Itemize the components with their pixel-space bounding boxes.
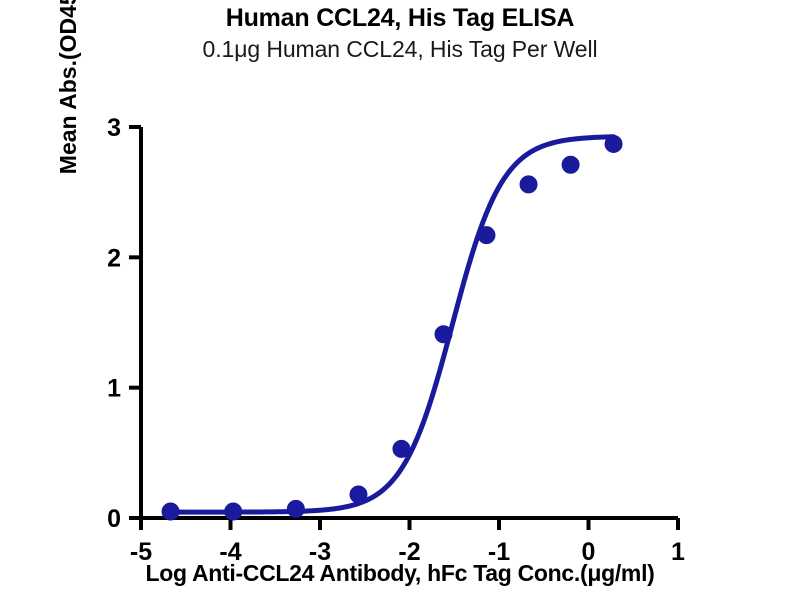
plot-area: -5-4-3-2-1010123	[0, 0, 800, 600]
data-point	[287, 500, 304, 517]
data-points	[162, 135, 622, 520]
x-tick-label: -5	[130, 538, 152, 566]
data-point	[478, 227, 495, 244]
data-point	[393, 440, 410, 457]
axes: -5-4-3-2-1010123	[107, 114, 685, 566]
fit-curve	[171, 137, 614, 512]
y-tick-label: 3	[107, 114, 121, 142]
x-tick-label: -4	[219, 538, 241, 566]
y-tick-label: 1	[107, 375, 121, 403]
x-tick-label: -1	[488, 538, 510, 566]
y-tick-label: 2	[107, 244, 121, 272]
y-tick-label: 0	[107, 505, 121, 533]
data-point	[435, 326, 452, 343]
data-point	[162, 503, 179, 520]
x-tick-label: -2	[398, 538, 420, 566]
elisa-chart-figure: Human CCL24, His Tag ELISA 0.1μg Human C…	[0, 0, 800, 600]
x-tick-label: 1	[671, 538, 685, 566]
x-tick-label: -3	[309, 538, 331, 566]
data-point	[562, 156, 579, 173]
sigmoid-fit-line	[171, 137, 614, 512]
data-point	[605, 135, 622, 152]
data-point	[520, 176, 537, 193]
data-point	[225, 503, 242, 520]
x-tick-label: 0	[582, 538, 596, 566]
data-point	[350, 486, 367, 503]
